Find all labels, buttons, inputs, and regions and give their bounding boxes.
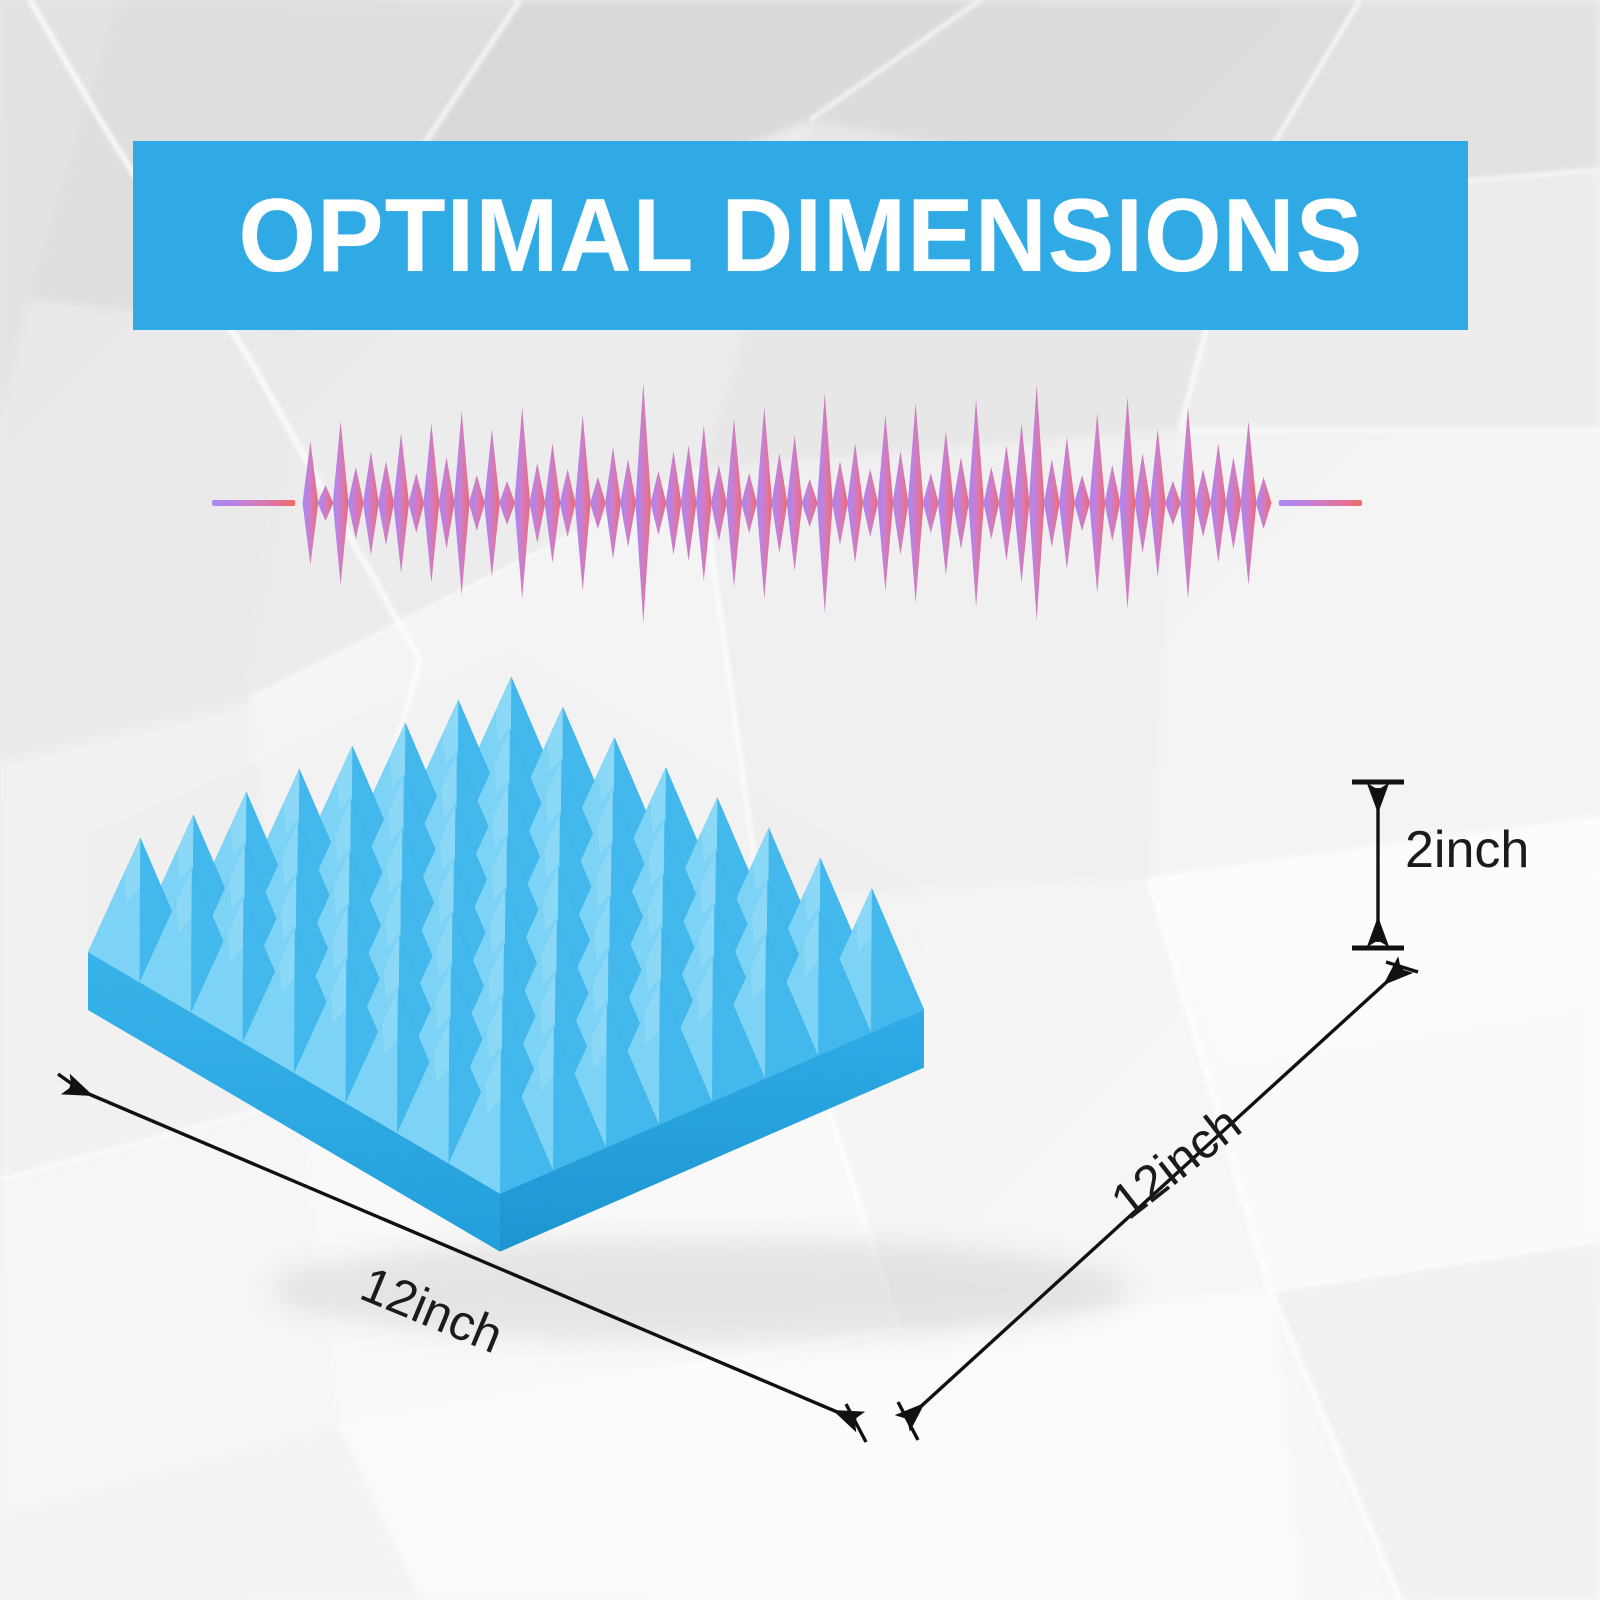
- dimension-line-width: [58, 1074, 866, 1442]
- dimension-label-height: 2inch: [1405, 820, 1529, 880]
- infographic-canvas: OPTIMAL DIMENSIONS: [0, 0, 1600, 1600]
- dimension-line-height: [1352, 782, 1404, 948]
- dimension-annotations: [0, 0, 1600, 1600]
